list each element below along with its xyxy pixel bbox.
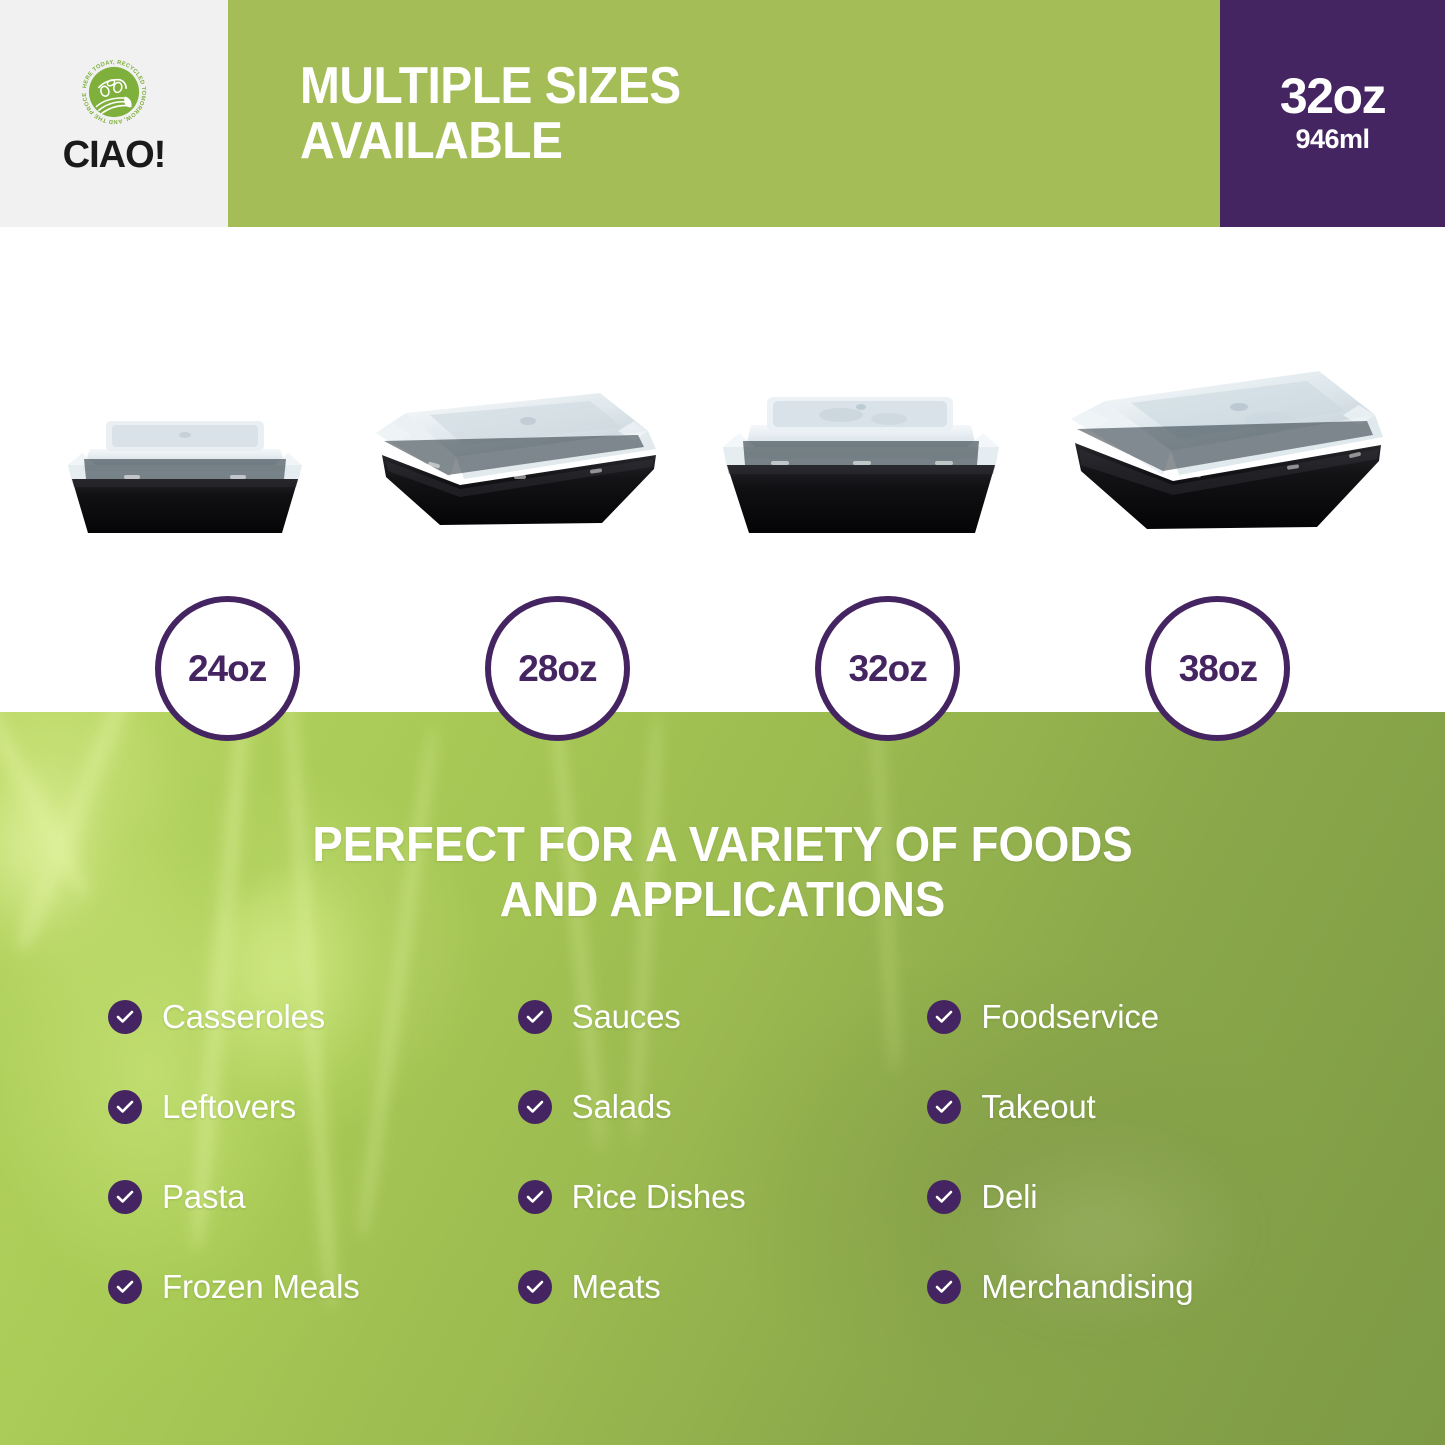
list-item: Merchandising (927, 1270, 1337, 1304)
header-title-area: MULTIPLE SIZES AVAILABLE (228, 0, 1220, 227)
list-item-label: Merchandising (981, 1270, 1193, 1303)
check-icon (927, 1180, 961, 1214)
check-icon (108, 1180, 142, 1214)
brand-wordmark: CIAO! (63, 136, 166, 174)
list-item-label: Frozen Meals (162, 1270, 360, 1303)
list-item-label: Pasta (162, 1180, 245, 1213)
list-item: Takeout (927, 1090, 1337, 1124)
product-container-28oz (364, 357, 664, 547)
size-circle-row: 24oz 28oz 32oz 38oz (0, 596, 1445, 741)
list-item: Casseroles (108, 1000, 518, 1034)
list-item: Rice Dishes (518, 1180, 928, 1214)
applications-checklist: Casseroles Leftovers Pasta (0, 1000, 1445, 1304)
list-item: Deli (927, 1180, 1337, 1214)
product-container-32oz (713, 369, 1013, 547)
list-item-label: Leftovers (162, 1090, 296, 1123)
list-item-label: Meats (572, 1270, 661, 1303)
applications-title: PERFECT FOR A VARIETY OF FOODS AND APPLI… (51, 818, 1395, 928)
product-container-24oz (54, 387, 316, 547)
list-item-label: Casseroles (162, 1000, 325, 1033)
list-item-label: Foodservice (981, 1000, 1159, 1033)
list-item: Salads (518, 1090, 928, 1124)
recycle-olive-badge-icon: HERE TODAY, RECYCLED TOMORROW, AND THE P… (76, 54, 152, 130)
check-icon (927, 1000, 961, 1034)
capacity-badge-ml: 946ml (1295, 123, 1369, 155)
product-container-38oz (1061, 349, 1391, 547)
list-item-label: Deli (981, 1180, 1037, 1213)
size-circle-32oz: 32oz (815, 596, 960, 741)
container-row (0, 227, 1445, 587)
list-item: Sauces (518, 1000, 928, 1034)
check-icon (108, 1270, 142, 1304)
list-item-label: Salads (572, 1090, 672, 1123)
size-circle-28oz: 28oz (485, 596, 630, 741)
page-title: MULTIPLE SIZES AVAILABLE (300, 59, 681, 167)
check-icon (518, 1000, 552, 1034)
infographic-page: HERE TODAY, RECYCLED TOMORROW, AND THE P… (0, 0, 1445, 1445)
brand-logo-panel: HERE TODAY, RECYCLED TOMORROW, AND THE P… (0, 0, 228, 227)
header-bar: HERE TODAY, RECYCLED TOMORROW, AND THE P… (0, 0, 1445, 227)
check-icon (108, 1000, 142, 1034)
checklist-column-3: Foodservice Takeout Deli (927, 1000, 1337, 1304)
list-item: Frozen Meals (108, 1270, 518, 1304)
list-item: Meats (518, 1270, 928, 1304)
applications-content: PERFECT FOR A VARIETY OF FOODS AND APPLI… (0, 712, 1445, 1304)
list-item: Foodservice (927, 1000, 1337, 1034)
list-item-label: Sauces (572, 1000, 681, 1033)
checklist-column-1: Casseroles Leftovers Pasta (108, 1000, 518, 1304)
list-item: Leftovers (108, 1090, 518, 1124)
list-item-label: Rice Dishes (572, 1180, 746, 1213)
check-icon (927, 1270, 961, 1304)
applications-section: PERFECT FOR A VARIETY OF FOODS AND APPLI… (0, 712, 1445, 1445)
list-item-label: Takeout (981, 1090, 1095, 1123)
applications-title-line1: PERFECT FOR A VARIETY OF FOODS (51, 818, 1395, 873)
page-title-line2: AVAILABLE (300, 114, 681, 168)
checklist-column-2: Sauces Salads Rice Dishes (518, 1000, 928, 1304)
capacity-badge: 32oz 946ml (1220, 0, 1445, 227)
capacity-badge-oz: 32oz (1280, 71, 1385, 121)
check-icon (518, 1090, 552, 1124)
check-icon (518, 1180, 552, 1214)
size-circle-38oz: 38oz (1145, 596, 1290, 741)
check-icon (927, 1090, 961, 1124)
list-item: Pasta (108, 1180, 518, 1214)
size-circle-24oz: 24oz (155, 596, 300, 741)
applications-title-line2: AND APPLICATIONS (51, 873, 1395, 928)
check-icon (518, 1270, 552, 1304)
check-icon (108, 1090, 142, 1124)
page-title-line1: MULTIPLE SIZES (300, 59, 681, 113)
